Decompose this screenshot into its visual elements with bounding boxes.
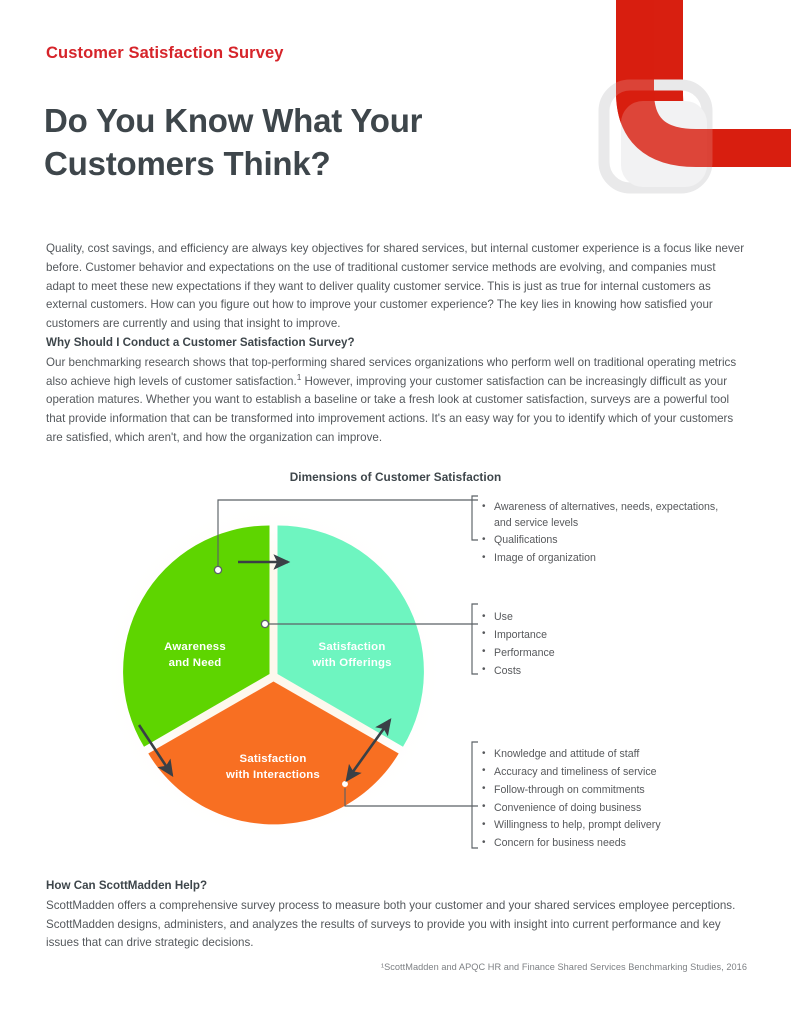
callout-satisfaction-with-interactions: Knowledge and attitude of staff Accuracy… xyxy=(481,747,741,854)
why-section-heading: Why Should I Conduct a Customer Satisfac… xyxy=(46,334,746,353)
leader-node-offerings xyxy=(261,620,268,627)
callout-item: Willingness to help, prompt delivery xyxy=(481,818,741,834)
callout-list: Awareness of alternatives, needs, expect… xyxy=(481,500,731,567)
dimensions-diagram: Awareness and Need Satisfaction with Off… xyxy=(0,492,791,872)
wedge-label-line-1: Satisfaction xyxy=(319,641,386,653)
help-section-body: ScottMadden offers a comprehensive surve… xyxy=(46,897,746,953)
wedge-label-satisfaction-with-offerings: Satisfaction with Offerings xyxy=(288,640,416,671)
leader-node-awareness xyxy=(214,566,221,573)
wedge-label-line-1: Satisfaction xyxy=(240,753,307,765)
wedge-label-line-2: with Interactions xyxy=(226,769,320,781)
callout-item: Follow-through on commitments xyxy=(481,783,741,799)
callout-item: Qualifications xyxy=(481,533,731,549)
callout-item: Use xyxy=(481,610,731,626)
callout-list: Knowledge and attitude of staff Accuracy… xyxy=(481,747,741,852)
why-section-body: Our benchmarking research shows that top… xyxy=(46,354,746,448)
page-title: Do You Know What Your Customers Think? xyxy=(44,100,514,185)
intro-paragraph: Quality, cost savings, and efficiency ar… xyxy=(46,240,746,334)
callout-item: Accuracy and timeliness of service xyxy=(481,765,741,781)
callout-item: Performance xyxy=(481,646,731,662)
wedge-label-satisfaction-with-interactions: Satisfaction with Interactions xyxy=(198,752,348,783)
callout-item: Knowledge and attitude of staff xyxy=(481,747,741,763)
callout-item: Importance xyxy=(481,628,731,644)
scottmadden-logo xyxy=(590,0,791,200)
callout-item: Convenience of doing business xyxy=(481,801,741,817)
callout-item: Concern for business needs xyxy=(481,836,741,852)
figure-title: Dimensions of Customer Satisfaction xyxy=(0,470,791,484)
wedge-label-line-1: Awareness xyxy=(164,641,226,653)
wedge-label-awareness-and-need: Awareness and Need xyxy=(131,640,259,671)
page-eyebrow: Customer Satisfaction Survey xyxy=(46,44,284,63)
footnote: ¹ScottMadden and APQC HR and Finance Sha… xyxy=(381,962,747,972)
help-section: How Can ScottMadden Help? ScottMadden of… xyxy=(46,877,746,953)
help-section-heading: How Can ScottMadden Help? xyxy=(46,877,746,896)
wedge-label-line-2: with Offerings xyxy=(312,657,391,669)
document-page: Customer Satisfaction Survey Do You Know… xyxy=(0,0,791,1024)
callout-item: Awareness of alternatives, needs, expect… xyxy=(481,500,731,531)
callout-item: Costs xyxy=(481,664,731,680)
callout-satisfaction-with-offerings: Use Importance Performance Costs xyxy=(481,610,731,681)
callout-list: Use Importance Performance Costs xyxy=(481,610,731,679)
logo-square-outline xyxy=(604,85,707,188)
wedge-label-line-2: and Need xyxy=(169,657,222,669)
why-section: Why Should I Conduct a Customer Satisfac… xyxy=(46,334,746,448)
callout-awareness-and-need: Awareness of alternatives, needs, expect… xyxy=(481,500,731,569)
logo-square-fill xyxy=(621,101,707,187)
callout-item: Image of organization xyxy=(481,551,731,567)
